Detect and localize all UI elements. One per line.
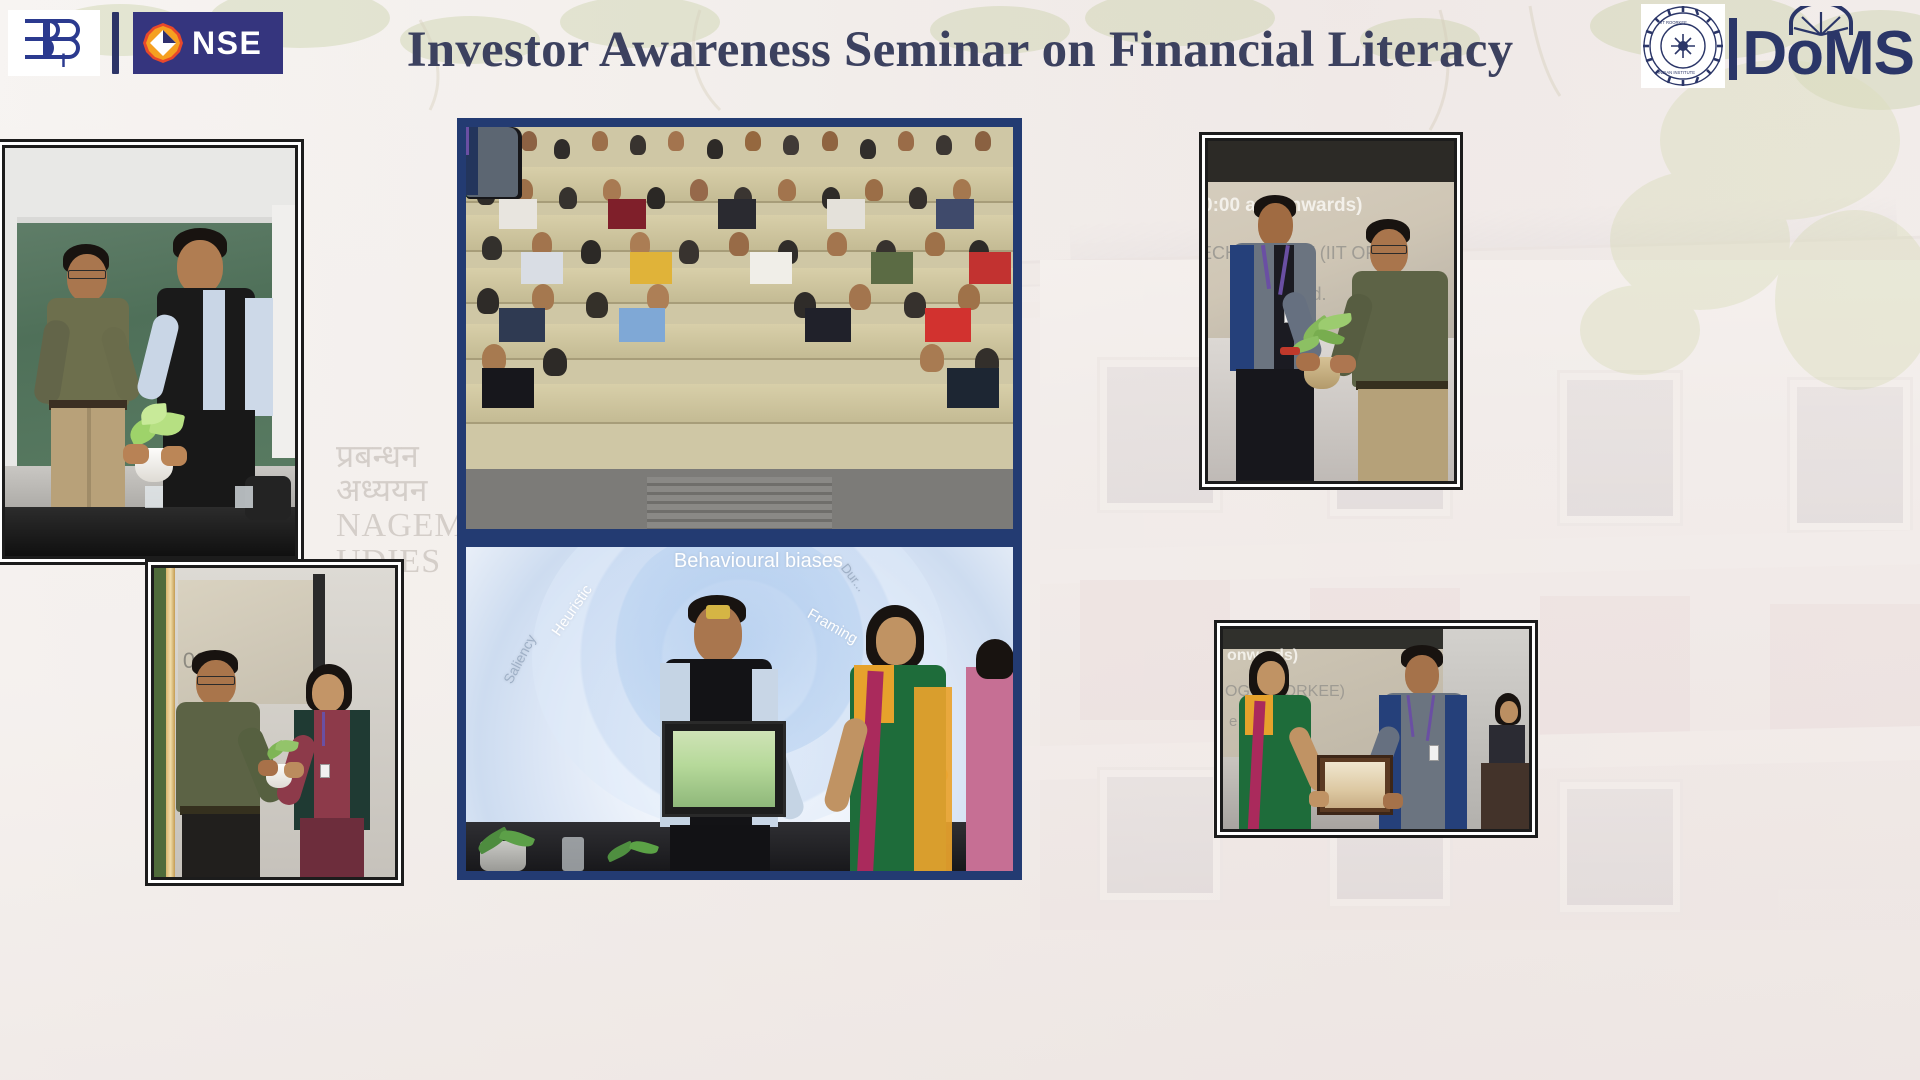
iit-roorkee-seal-icon: IIT ROORKEE INDIAN INSTITUTE bbox=[1641, 4, 1725, 88]
projector-line-3: e bbox=[1229, 713, 1237, 730]
photo-memento-behavioural-biases: Behavioural biases Heuristic Framing Sal… bbox=[457, 538, 1022, 880]
photo-plant-handover-chalkboard bbox=[2, 145, 298, 559]
doms-logo-container: DoMS bbox=[1729, 8, 1914, 84]
doms-arch-icon bbox=[1788, 6, 1854, 36]
memento-plaque bbox=[1317, 755, 1393, 815]
logo-group-right: IIT ROORKEE INDIAN INSTITUTE DoMS bbox=[1641, 4, 1914, 88]
slide-title: Behavioural biases bbox=[674, 550, 827, 573]
doms-wordmark: DoMS bbox=[1742, 25, 1914, 84]
svg-text:INDIAN INSTITUTE: INDIAN INSTITUTE bbox=[1658, 70, 1695, 75]
photo-scene: 00 bbox=[154, 568, 395, 877]
photo-scene: Behavioural biases Heuristic Framing Sal… bbox=[466, 547, 1013, 871]
photo-scene: 0:00 am onwards) ECHNOLOGY (IIT ORK nd. bbox=[1208, 141, 1454, 481]
svg-text:IIT ROORKEE: IIT ROORKEE bbox=[1660, 20, 1687, 25]
memento-plaque bbox=[662, 721, 786, 817]
header: i NSE Investor Awareness Seminar on Fina… bbox=[0, 0, 1920, 106]
page-title: Investor Awareness Seminar on Financial … bbox=[0, 0, 1920, 100]
photo-lecture-hall-group bbox=[457, 118, 1022, 538]
photo-scene bbox=[5, 148, 295, 556]
photo-memento-roorkee: onwards) OG -ROORKEE) e bbox=[1220, 626, 1532, 832]
photo-plant-handover-projector: 0:00 am onwards) ECHNOLOGY (IIT ORK nd. bbox=[1205, 138, 1457, 484]
doms-accent-bar bbox=[1729, 18, 1737, 80]
photo-plant-handover-female-guest: 00 bbox=[151, 565, 398, 880]
photo-scene bbox=[466, 127, 1013, 529]
photo-scene: onwards) OG -ROORKEE) e bbox=[1223, 629, 1529, 829]
